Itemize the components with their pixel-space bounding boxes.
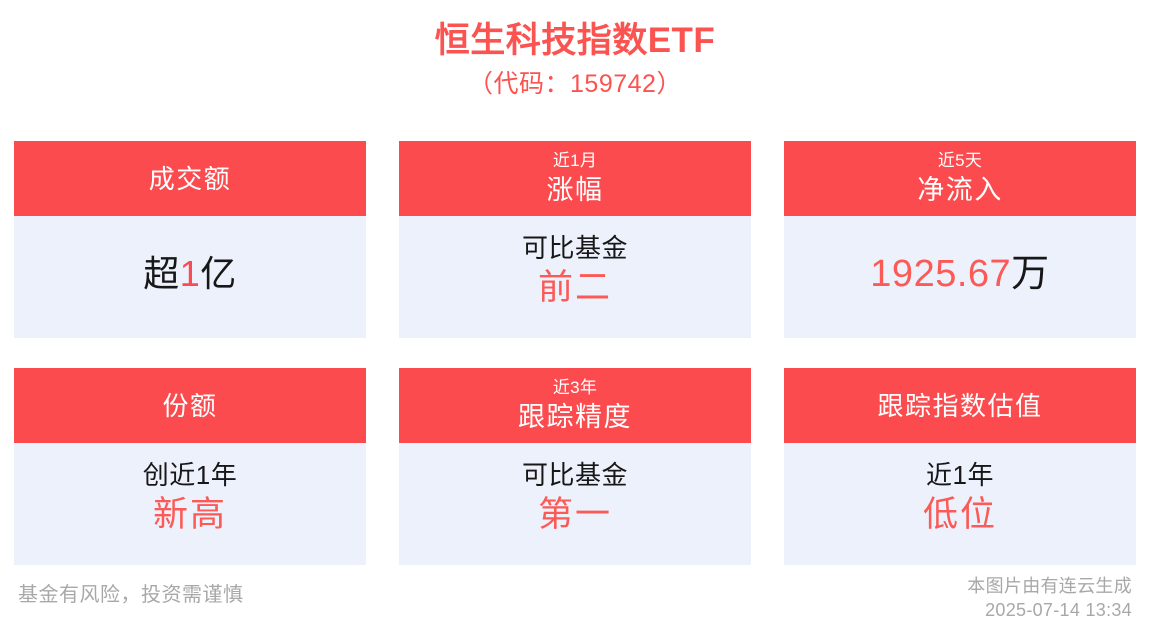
fund-code: （代码：159742）	[0, 66, 1150, 102]
card-header-shares: 份额	[14, 368, 366, 443]
credit-source: 本图片由有连云生成	[967, 576, 1132, 596]
card-title-index-valuation: 跟踪指数估值	[877, 389, 1042, 423]
card-title-tracking-accuracy: 跟踪精度	[518, 400, 632, 434]
value-highlight: 1925.67	[870, 253, 1011, 295]
card-body-net-inflow: 1925.67万	[784, 216, 1136, 338]
image-credit: 本图片由有连云生成 2025-07-14 13:34	[967, 574, 1132, 622]
card-value-line2-index-valuation: 低位	[923, 493, 997, 537]
page-header: 恒生科技指数ETF （代码：159742）	[0, 0, 1150, 102]
card-subtitle-net-inflow: 近5天	[938, 150, 982, 172]
page-title: 恒生科技指数ETF	[0, 18, 1150, 64]
card-value-line1-tracking-accuracy: 可比基金	[522, 457, 628, 493]
value-suffix: 万	[1011, 253, 1050, 295]
metric-card-net-inflow: 近5天 净流入 1925.67万	[784, 141, 1136, 338]
value-highlight: 1	[180, 253, 201, 294]
metric-card-tracking-accuracy: 近3年 跟踪精度 可比基金 第一	[399, 368, 751, 565]
card-header-monthly-gain: 近1月 涨幅	[399, 141, 751, 216]
card-header-turnover: 成交额	[14, 141, 366, 216]
metric-card-turnover: 成交额 超1亿	[14, 141, 366, 338]
card-value-line1-shares: 创近1年	[143, 457, 237, 493]
card-header-index-valuation: 跟踪指数估值	[784, 368, 1136, 443]
card-body-shares: 创近1年 新高	[14, 443, 366, 565]
risk-disclaimer: 基金有风险，投资需谨慎	[18, 574, 244, 610]
card-value-line2-tracking-accuracy: 第一	[538, 493, 612, 537]
card-title-shares: 份额	[162, 389, 217, 423]
card-subtitle-tracking-accuracy: 近3年	[553, 377, 597, 399]
card-value-turnover: 超1亿	[143, 251, 237, 297]
metric-card-monthly-gain: 近1月 涨幅 可比基金 前二	[399, 141, 751, 338]
card-header-net-inflow: 近5天 净流入	[784, 141, 1136, 216]
card-header-tracking-accuracy: 近3年 跟踪精度	[399, 368, 751, 443]
card-value-net-inflow: 1925.67万	[870, 250, 1049, 298]
card-subtitle-monthly-gain: 近1月	[553, 150, 597, 172]
card-body-monthly-gain: 可比基金 前二	[399, 216, 751, 338]
card-title-monthly-gain: 涨幅	[547, 173, 604, 207]
credit-timestamp: 2025-07-14 13:34	[967, 598, 1132, 622]
page-footer: 基金有风险，投资需谨慎 本图片由有连云生成 2025-07-14 13:34	[0, 574, 1150, 624]
metric-card-shares: 份额 创近1年 新高	[14, 368, 366, 565]
card-body-tracking-accuracy: 可比基金 第一	[399, 443, 751, 565]
card-value-line1-monthly-gain: 可比基金	[522, 230, 628, 266]
card-body-turnover: 超1亿	[14, 216, 366, 338]
card-title-turnover: 成交额	[149, 162, 232, 196]
value-prefix: 超	[143, 253, 180, 294]
card-body-index-valuation: 近1年 低位	[784, 443, 1136, 565]
card-value-line2-shares: 新高	[153, 493, 227, 537]
metric-card-index-valuation: 跟踪指数估值 近1年 低位	[784, 368, 1136, 565]
card-value-line1-index-valuation: 近1年	[926, 457, 994, 493]
card-title-net-inflow: 净流入	[917, 173, 1003, 207]
metric-card-grid: 成交额 超1亿 近1月 涨幅 可比基金 前二 近5天 净流入 1925.67万 …	[14, 141, 1136, 565]
value-suffix: 亿	[200, 253, 237, 294]
card-value-line2-monthly-gain: 前二	[538, 266, 612, 310]
